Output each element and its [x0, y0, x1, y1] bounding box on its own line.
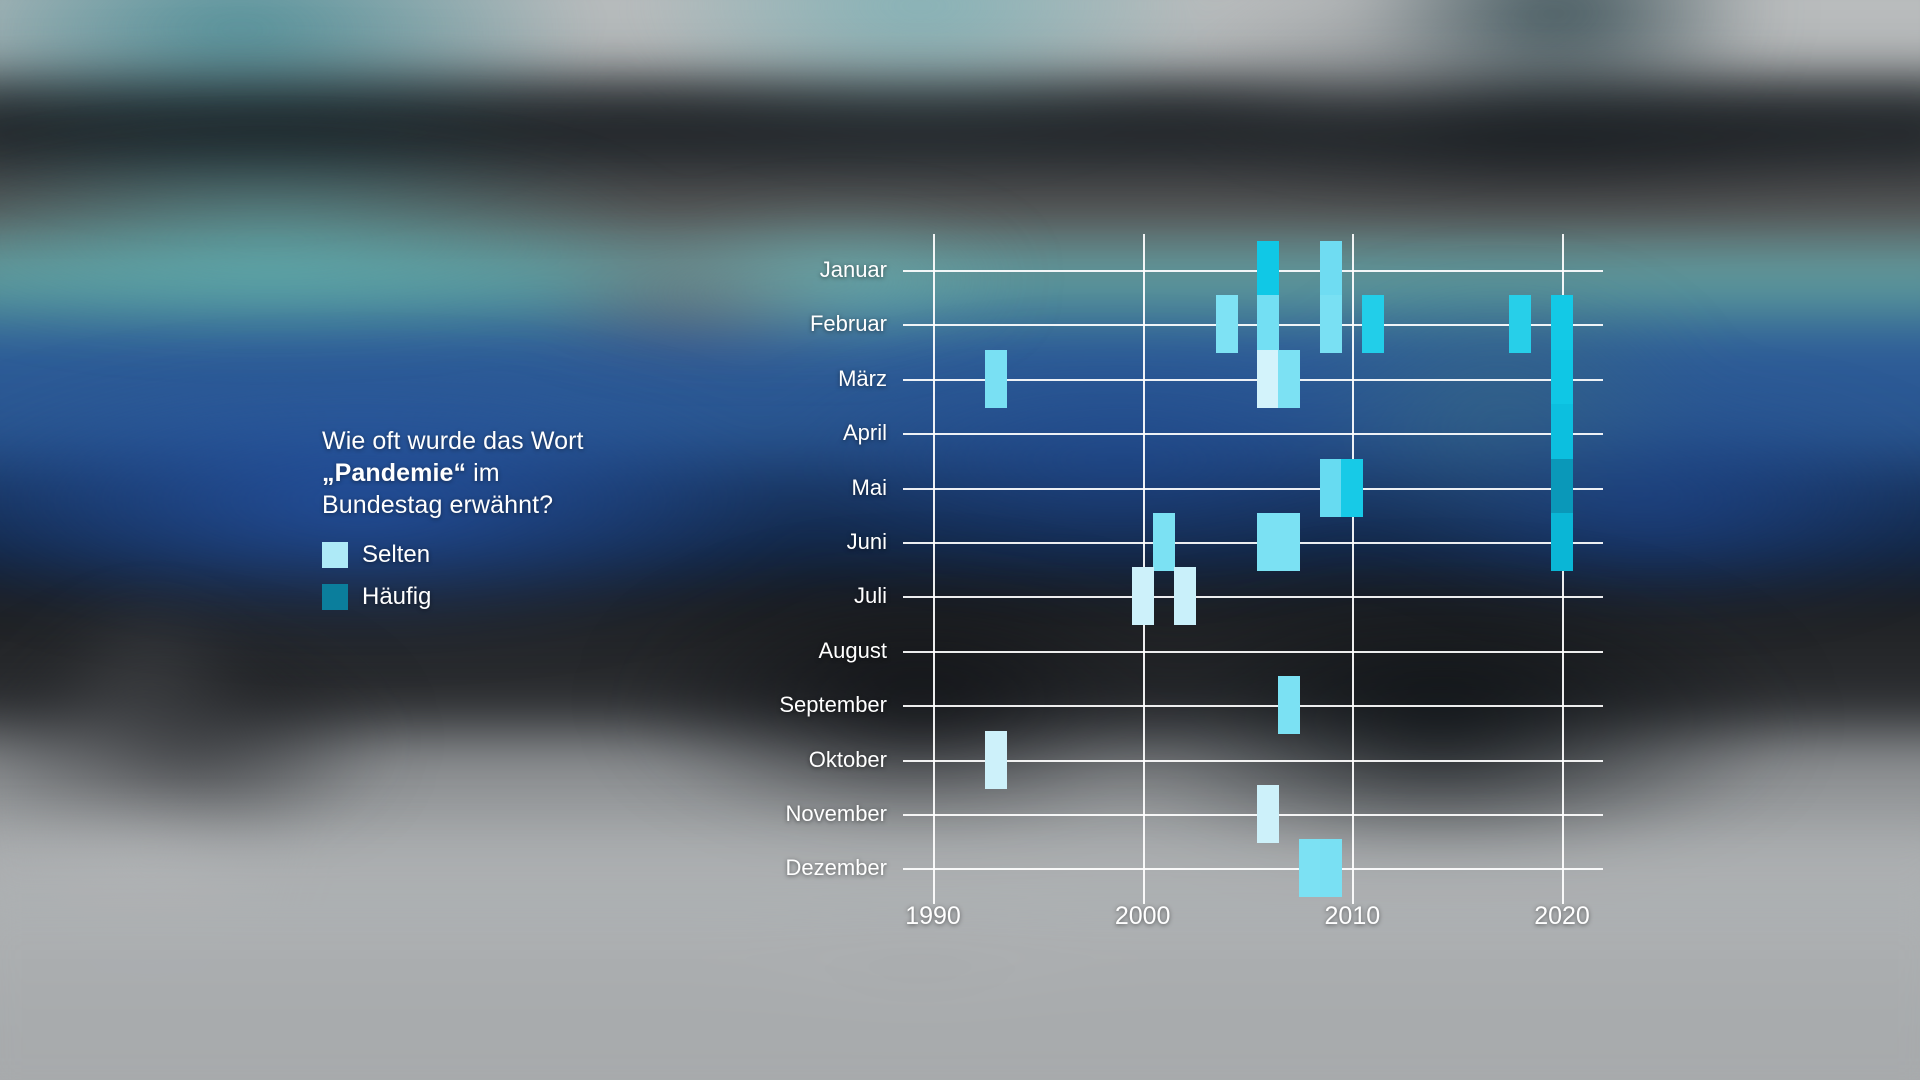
- title-line-1: Wie oft wurde das Wort: [322, 427, 584, 455]
- legend-item-selten: Selten: [322, 541, 682, 569]
- title-line-3: Bundestag erwähnt?: [322, 491, 553, 519]
- title-line-2-tail: im: [466, 459, 500, 487]
- legend-item-haeufig: Häufig: [322, 583, 682, 611]
- legend-label-haeufig: Häufig: [362, 583, 431, 611]
- legend-swatch-haeufig: [322, 584, 348, 610]
- background-floor-layer: [0, 0, 1920, 1080]
- legend: Selten Häufig: [322, 541, 682, 611]
- legend-swatch-selten: [322, 542, 348, 568]
- background-photo: [0, 0, 1920, 1080]
- page-title: Wie oft wurde das Wort „Pandemie“ im Bun…: [322, 425, 682, 521]
- legend-label-selten: Selten: [362, 541, 430, 569]
- title-keyword: „Pandemie“: [322, 459, 466, 487]
- headline-block: Wie oft wurde das Wort „Pandemie“ im Bun…: [322, 425, 682, 625]
